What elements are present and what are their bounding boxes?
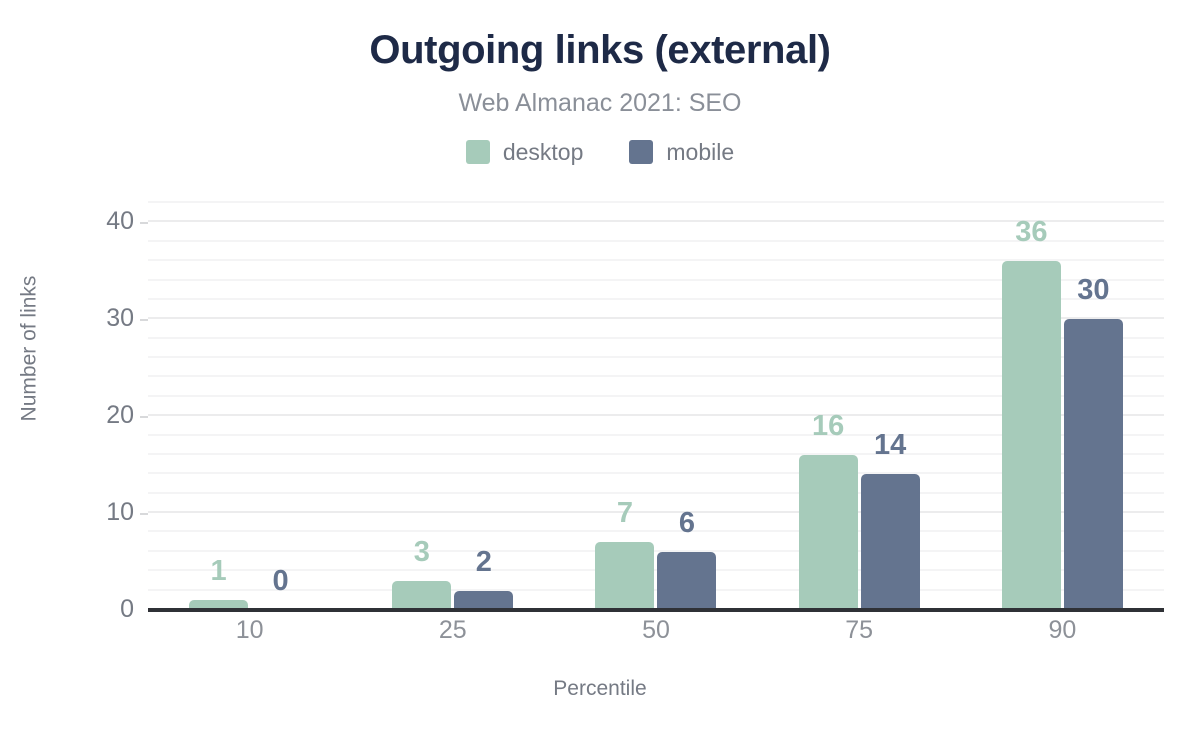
bar-mobile-50[interactable] <box>657 552 716 610</box>
y-axis-tick-mark <box>140 416 148 418</box>
legend-item-desktop[interactable]: desktop <box>466 140 584 164</box>
bar-desktop-25[interactable] <box>392 581 451 610</box>
x-axis-title: Percentile <box>0 678 1200 699</box>
bar-group: 10 <box>148 203 351 610</box>
chart-container: Outgoing links (external) Web Almanac 20… <box>0 0 1200 742</box>
y-axis-tick-mark <box>140 222 148 224</box>
chart-legend: desktop mobile <box>0 140 1200 164</box>
bar-desktop-75[interactable] <box>799 455 858 610</box>
chart-subtitle: Web Almanac 2021: SEO <box>0 90 1200 118</box>
bar-group: 76 <box>554 203 757 610</box>
bar-mobile-90[interactable] <box>1064 319 1123 610</box>
bar-mobile-75[interactable] <box>861 474 920 610</box>
chart-title: Outgoing links (external) <box>0 28 1200 72</box>
legend-label-desktop: desktop <box>503 141 584 164</box>
bar-group: 1614 <box>758 203 961 610</box>
bar-group: 3630 <box>961 203 1164 610</box>
legend-swatch-desktop <box>466 140 490 164</box>
x-axis-baseline <box>148 608 1164 612</box>
bar-value-label-mobile-25: 2 <box>442 548 525 577</box>
legend-item-mobile[interactable]: mobile <box>629 140 734 164</box>
bar-value-label-mobile-10: 0 <box>239 567 322 596</box>
x-axis-tick-label: 90 <box>961 618 1164 643</box>
x-axis-tick-label: 25 <box>351 618 554 643</box>
y-axis-title: Number of links <box>19 149 40 549</box>
y-axis-tick-mark <box>140 513 148 515</box>
bar-value-label-mobile-50: 6 <box>645 509 728 538</box>
x-axis-tick-label: 75 <box>758 618 961 643</box>
bar-value-label-mobile-90: 30 <box>1052 276 1135 305</box>
legend-label-mobile: mobile <box>666 141 734 164</box>
bar-groups: 10327616143630 <box>148 203 1164 610</box>
bar-group: 32 <box>351 203 554 610</box>
x-axis-tick-label: 10 <box>148 618 351 643</box>
y-axis-tick-label: 0 <box>14 597 134 622</box>
bar-value-label-mobile-75: 14 <box>849 431 932 460</box>
bar-desktop-90[interactable] <box>1002 261 1061 610</box>
legend-swatch-mobile <box>629 140 653 164</box>
bar-desktop-50[interactable] <box>595 542 654 610</box>
y-axis-tick-mark <box>140 319 148 321</box>
bar-value-label-desktop-90: 36 <box>990 218 1073 247</box>
x-axis-tick-label: 50 <box>554 618 757 643</box>
